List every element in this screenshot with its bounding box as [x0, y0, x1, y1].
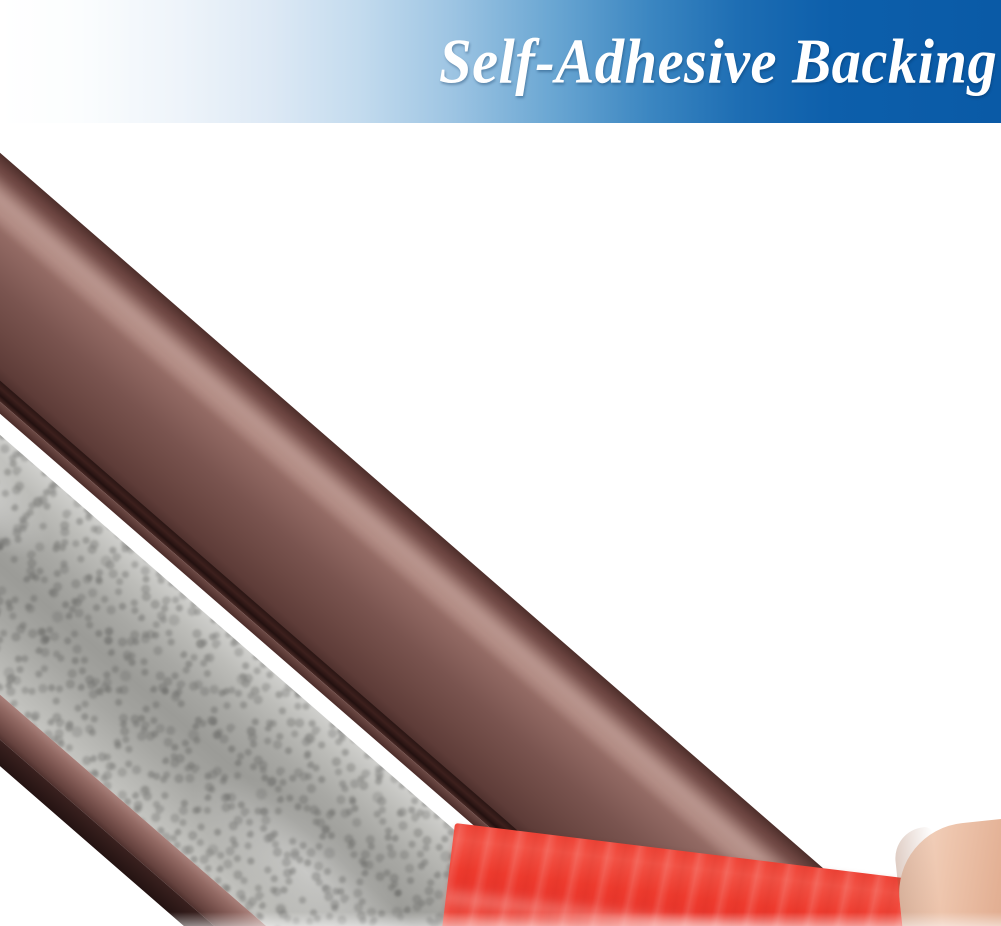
floor-strip-assembly [0, 134, 869, 926]
product-feature-image: Self-Adhesive Backing The flexible floor… [0, 0, 1001, 926]
page-title: Self-Adhesive Backing [439, 30, 997, 93]
header-banner: Self-Adhesive Backing [0, 0, 1001, 123]
product-photo [0, 123, 1001, 926]
finger-shading [892, 826, 958, 926]
finger [892, 817, 1001, 926]
